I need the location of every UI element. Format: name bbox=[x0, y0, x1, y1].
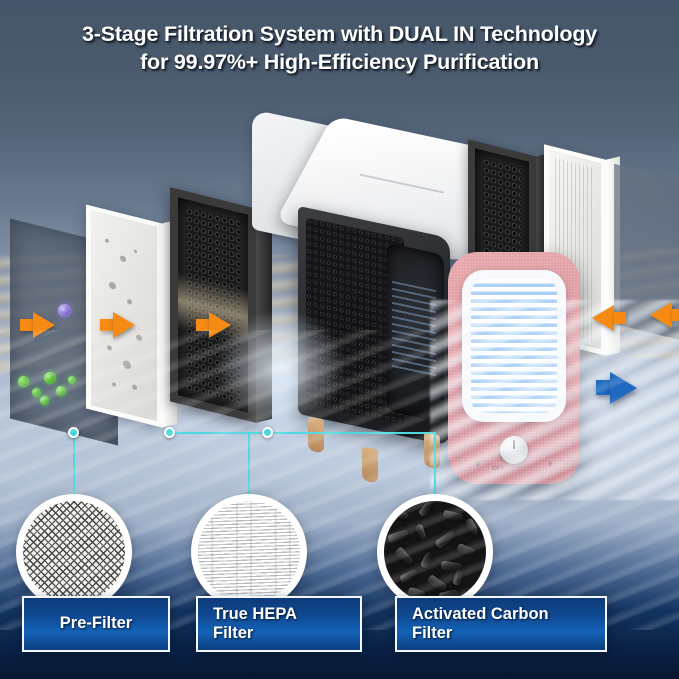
dirty-air-arrow bbox=[209, 312, 231, 338]
bacteria-particle bbox=[68, 376, 76, 384]
bacteria-particle bbox=[56, 386, 66, 396]
pleat-texture bbox=[198, 501, 300, 603]
callout-dot-carbon bbox=[262, 427, 273, 438]
dirty-arrow-tail bbox=[20, 319, 33, 331]
airflow-mist bbox=[216, 308, 346, 428]
bacteria-particle bbox=[18, 376, 29, 387]
label-pre-filter: Pre-Filter bbox=[60, 614, 132, 633]
pellet-texture bbox=[384, 501, 486, 603]
hepa-detail-circle bbox=[191, 494, 307, 610]
label-true-hepa: True HEPA Filter bbox=[198, 605, 297, 644]
callout-line-carbon bbox=[268, 432, 436, 434]
dirty-air-arrow-right bbox=[592, 305, 614, 331]
label-activated-carbon-line2: Filter bbox=[412, 624, 452, 642]
label-plate-pre-filter: Pre-Filter bbox=[22, 596, 170, 652]
label-activated-carbon: Activated Carbon Filter bbox=[397, 605, 549, 644]
prefilter-detail-circle bbox=[16, 494, 132, 610]
label-true-hepa-line1: True HEPA bbox=[213, 605, 297, 623]
label-true-hepa-line2: Filter bbox=[213, 624, 253, 642]
dirty-arrow-tail bbox=[672, 309, 679, 321]
dirty-arrow-tail bbox=[196, 319, 209, 331]
bacteria-particle bbox=[44, 372, 56, 384]
carbon-pellets-closeup bbox=[384, 501, 486, 603]
dirty-arrow-tail bbox=[100, 319, 113, 331]
mesh-texture bbox=[23, 501, 125, 603]
label-plate-activated-carbon: Activated Carbon Filter bbox=[395, 596, 607, 652]
label-activated-carbon-line1: Activated Carbon bbox=[412, 605, 549, 623]
prefilter-mesh-closeup bbox=[23, 501, 125, 603]
unit-foot bbox=[362, 447, 378, 484]
dirty-arrow-tail bbox=[614, 312, 626, 324]
clean-airstream bbox=[430, 300, 679, 500]
callout-dot-hepa bbox=[164, 427, 175, 438]
exploded-diagram: 0 0 OFF bbox=[0, 0, 679, 679]
clean-air-arrow bbox=[610, 372, 637, 404]
virus-particle bbox=[58, 304, 71, 317]
label-plate-true-hepa: True HEPA Filter bbox=[196, 596, 362, 652]
clean-arrow-tail bbox=[596, 380, 610, 395]
dirty-air-arrow bbox=[33, 312, 55, 338]
dirty-air-arrow bbox=[113, 312, 135, 338]
bacteria-particle bbox=[32, 388, 41, 397]
dirty-air-arrow-right bbox=[650, 302, 672, 328]
callout-dot-prefilter bbox=[68, 427, 79, 438]
infographic-canvas: 3-Stage Filtration System with DUAL IN T… bbox=[0, 0, 679, 679]
carbon-detail-circle bbox=[377, 494, 493, 610]
hepa-media-closeup bbox=[198, 501, 300, 603]
bacteria-particle bbox=[40, 396, 49, 405]
unit-foot bbox=[308, 417, 324, 454]
